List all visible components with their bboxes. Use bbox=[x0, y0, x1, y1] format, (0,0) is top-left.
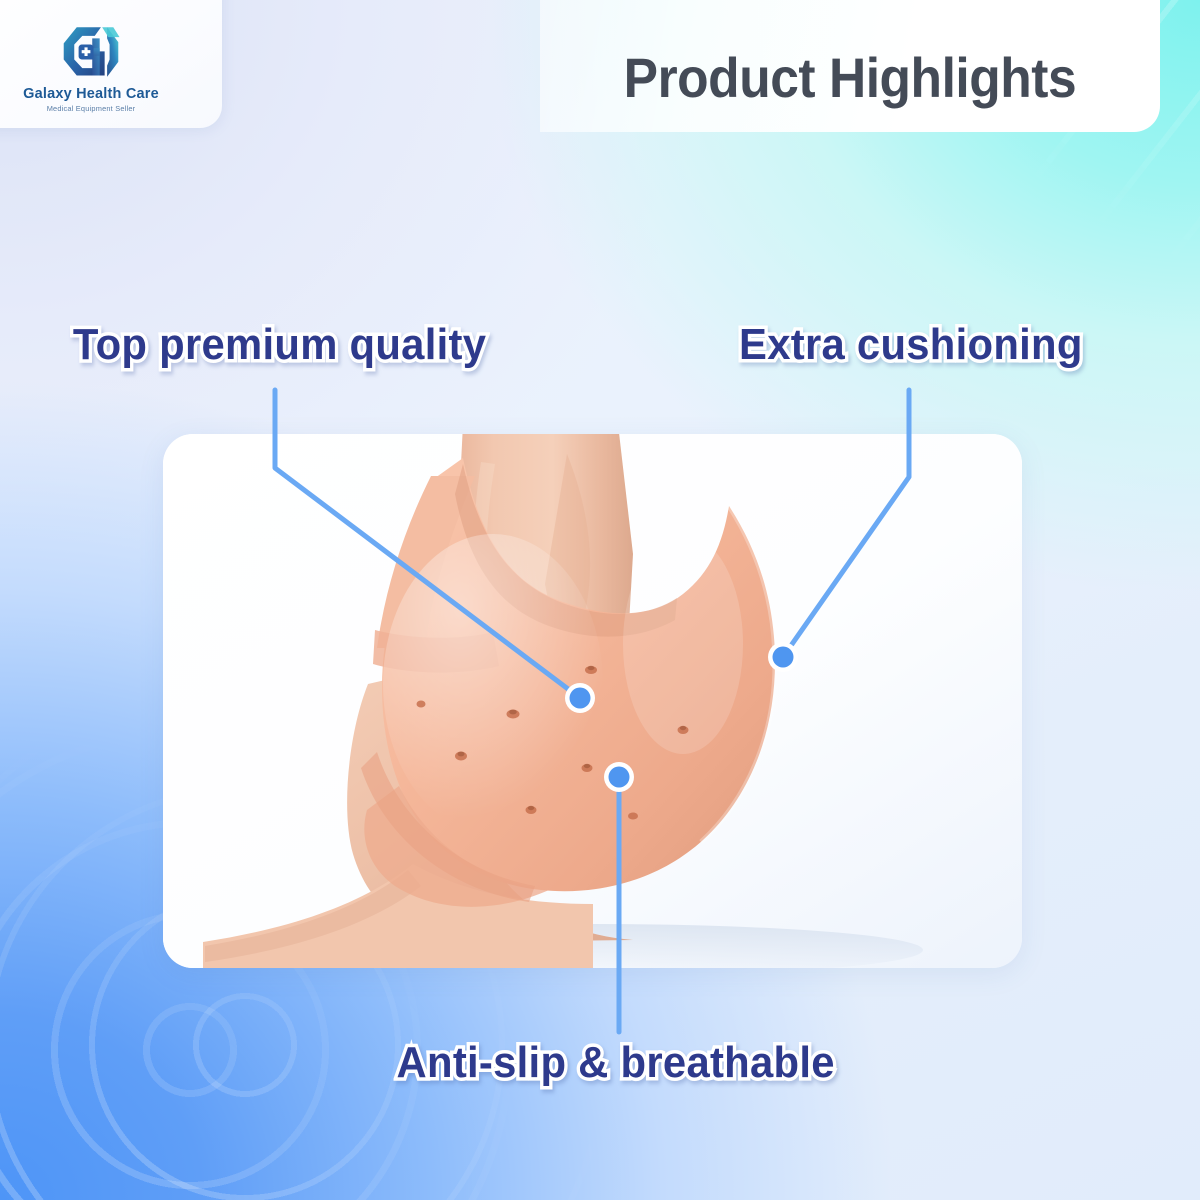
page-title-panel: Product Highlights bbox=[540, 0, 1160, 132]
callout-label-top-premium-quality: Top premium quality bbox=[73, 320, 486, 370]
product-highlights-graphic: Galaxy Health Care Medical Equipment Sel… bbox=[0, 0, 1200, 1200]
callout-label-anti-slip-breathable: Anti-slip & breathable bbox=[397, 1038, 835, 1088]
brand-name: Galaxy Health Care bbox=[23, 87, 159, 102]
page-title: Product Highlights bbox=[624, 45, 1077, 110]
callout-label-extra-cushioning: Extra cushioning bbox=[739, 320, 1083, 370]
product-photo bbox=[163, 434, 1022, 968]
product-image-card bbox=[163, 434, 1022, 968]
ghc-hexagon-monogram-icon bbox=[52, 21, 130, 83]
brand-logo-panel: Galaxy Health Care Medical Equipment Sel… bbox=[0, 0, 222, 128]
brand-tagline: Medical Equipment Seller bbox=[47, 105, 136, 112]
